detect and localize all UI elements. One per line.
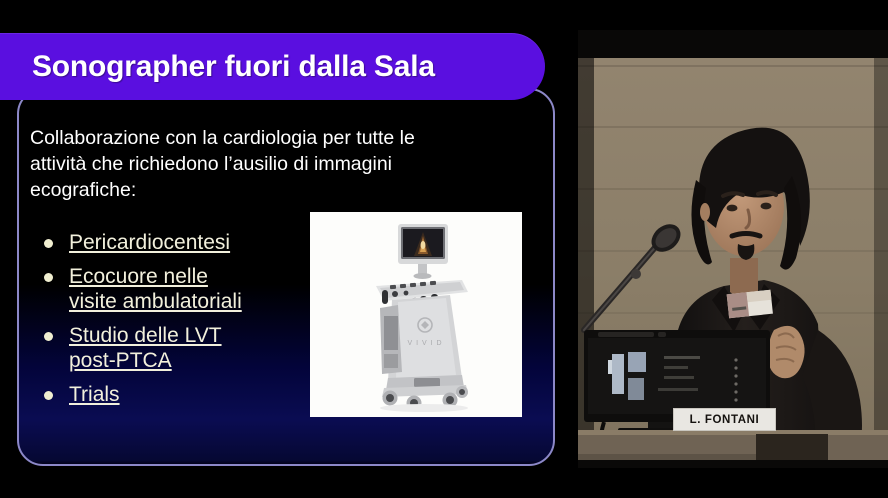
- list-item: Trials: [42, 382, 307, 408]
- slide-title-bar: Sonographer fuori dalla Sala: [0, 33, 545, 100]
- bullet-dot-icon: [44, 332, 53, 341]
- list-item: Studio delle LVT post-PTCA: [42, 323, 307, 374]
- bullet-label: Studio delle LVT post-PTCA: [69, 323, 307, 374]
- slide-intro-line-3: ecografiche:: [30, 177, 500, 203]
- bullet-line: Pericardiocentesi: [69, 230, 307, 256]
- slide-pane: Sonographer fuori dalla Sala Collaborazi…: [0, 0, 578, 498]
- bullet-line: post-PTCA: [69, 348, 307, 374]
- bullet-dot-icon: [44, 391, 53, 400]
- bullet-line: Ecocuore nelle: [69, 264, 307, 290]
- speaker-video[interactable]: L. FONTANI: [578, 30, 888, 468]
- nameplate-text: L. FONTANI: [690, 414, 760, 426]
- list-item: Ecocuore nelle visite ambulatoriali: [42, 264, 307, 315]
- slide-intro-line-1: Collaborazione con la cardiologia per tu…: [30, 125, 500, 151]
- bullet-label: Trials: [69, 382, 307, 408]
- slide-intro-line-2: attività che richiedono l’ausilio di imm…: [30, 151, 500, 177]
- screen-root: Sonographer fuori dalla Sala Collaborazi…: [0, 0, 888, 498]
- svg-text:V I V I D: V I V I D: [407, 340, 442, 347]
- bullet-line: visite ambulatoriali: [69, 289, 307, 315]
- bullet-label: Pericardiocentesi: [69, 230, 307, 256]
- bullet-dot-icon: [44, 273, 53, 282]
- bullet-line: Trials: [69, 382, 307, 408]
- ultrasound-cart-image: V I V I D: [310, 212, 522, 417]
- slide-bullet-list: Pericardiocentesi Ecocuore nelle visite …: [42, 230, 307, 415]
- slide-intro-paragraph: Collaborazione con la cardiologia per tu…: [30, 125, 500, 203]
- bullet-line: Studio delle LVT: [69, 323, 307, 349]
- bullet-dot-icon: [44, 239, 53, 248]
- nameplate: L. FONTANI: [673, 408, 776, 431]
- slide-title: Sonographer fuori dalla Sala: [32, 50, 435, 84]
- bullet-label: Ecocuore nelle visite ambulatoriali: [69, 264, 307, 315]
- list-item: Pericardiocentesi: [42, 230, 307, 256]
